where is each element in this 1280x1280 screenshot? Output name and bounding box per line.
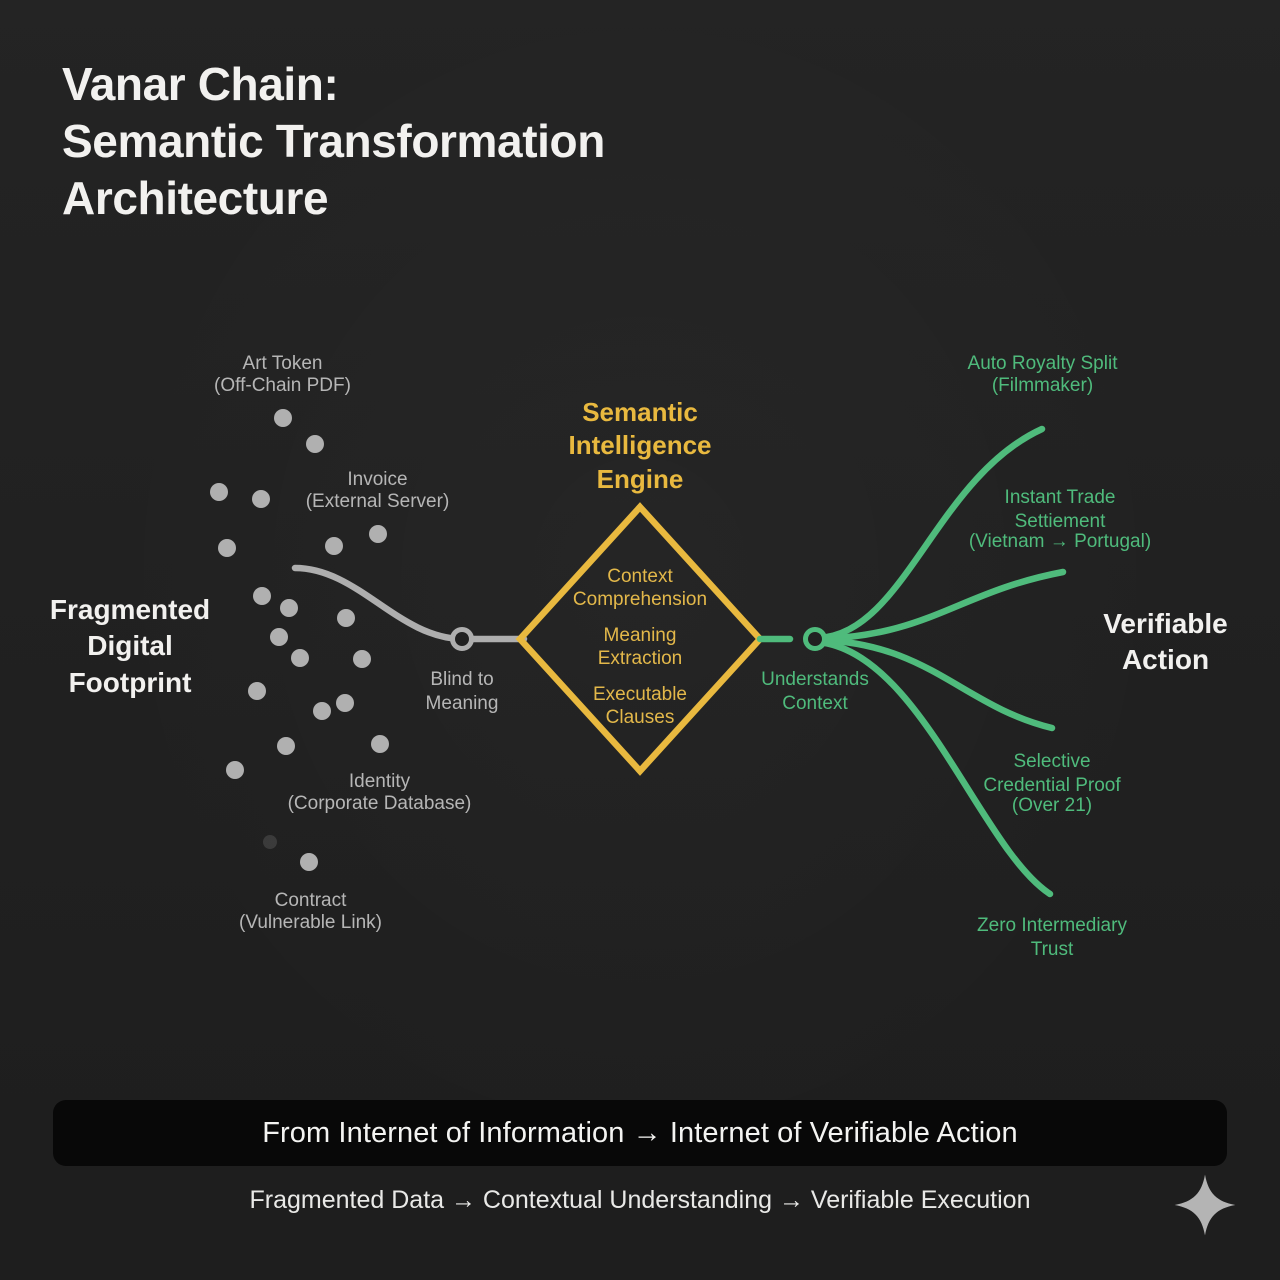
title-line-1: Vanar Chain: (62, 56, 605, 113)
title-line-3: Architecture (62, 170, 605, 227)
understands-context-node (806, 630, 825, 649)
data-dot-faint (263, 835, 277, 849)
data-dot (274, 409, 292, 427)
footer-banner: From Internet of Information → Internet … (53, 1100, 1227, 1166)
data-dot (306, 435, 324, 453)
data-dot (253, 587, 271, 605)
poster-canvas: Vanar Chain: Semantic Transformation Arc… (0, 0, 1280, 1280)
blind-to-meaning-node (453, 630, 472, 649)
data-dot (313, 702, 331, 720)
data-dot (252, 490, 270, 508)
data-dot (337, 609, 355, 627)
data-dot (291, 649, 309, 667)
page-title: Vanar Chain: Semantic Transformation Arc… (62, 56, 605, 227)
data-dot (210, 483, 228, 501)
verifiable-action-branches (818, 429, 1063, 894)
fragmented-data-dots (210, 409, 389, 871)
footer-banner-text: From Internet of Information → Internet … (262, 1117, 1018, 1150)
data-dot (369, 525, 387, 543)
data-dot (270, 628, 288, 646)
data-dot (277, 737, 295, 755)
data-dot (353, 650, 371, 668)
data-dot (248, 682, 266, 700)
branch-auto-royalty-split (818, 429, 1042, 638)
branch-zero-intermediary (818, 642, 1050, 894)
blind-to-meaning-path (295, 568, 524, 639)
data-dot (371, 735, 389, 753)
data-dot (325, 537, 343, 555)
sparkle-icon (1172, 1172, 1238, 1238)
data-dot (336, 694, 354, 712)
semantic-engine-diamond (520, 507, 760, 771)
data-dot (218, 539, 236, 557)
title-line-2: Semantic Transformation (62, 113, 605, 170)
data-dot (300, 853, 318, 871)
data-dot (280, 599, 298, 617)
footer-caption: Fragmented Data → Contextual Understandi… (0, 1186, 1280, 1215)
data-dot (226, 761, 244, 779)
